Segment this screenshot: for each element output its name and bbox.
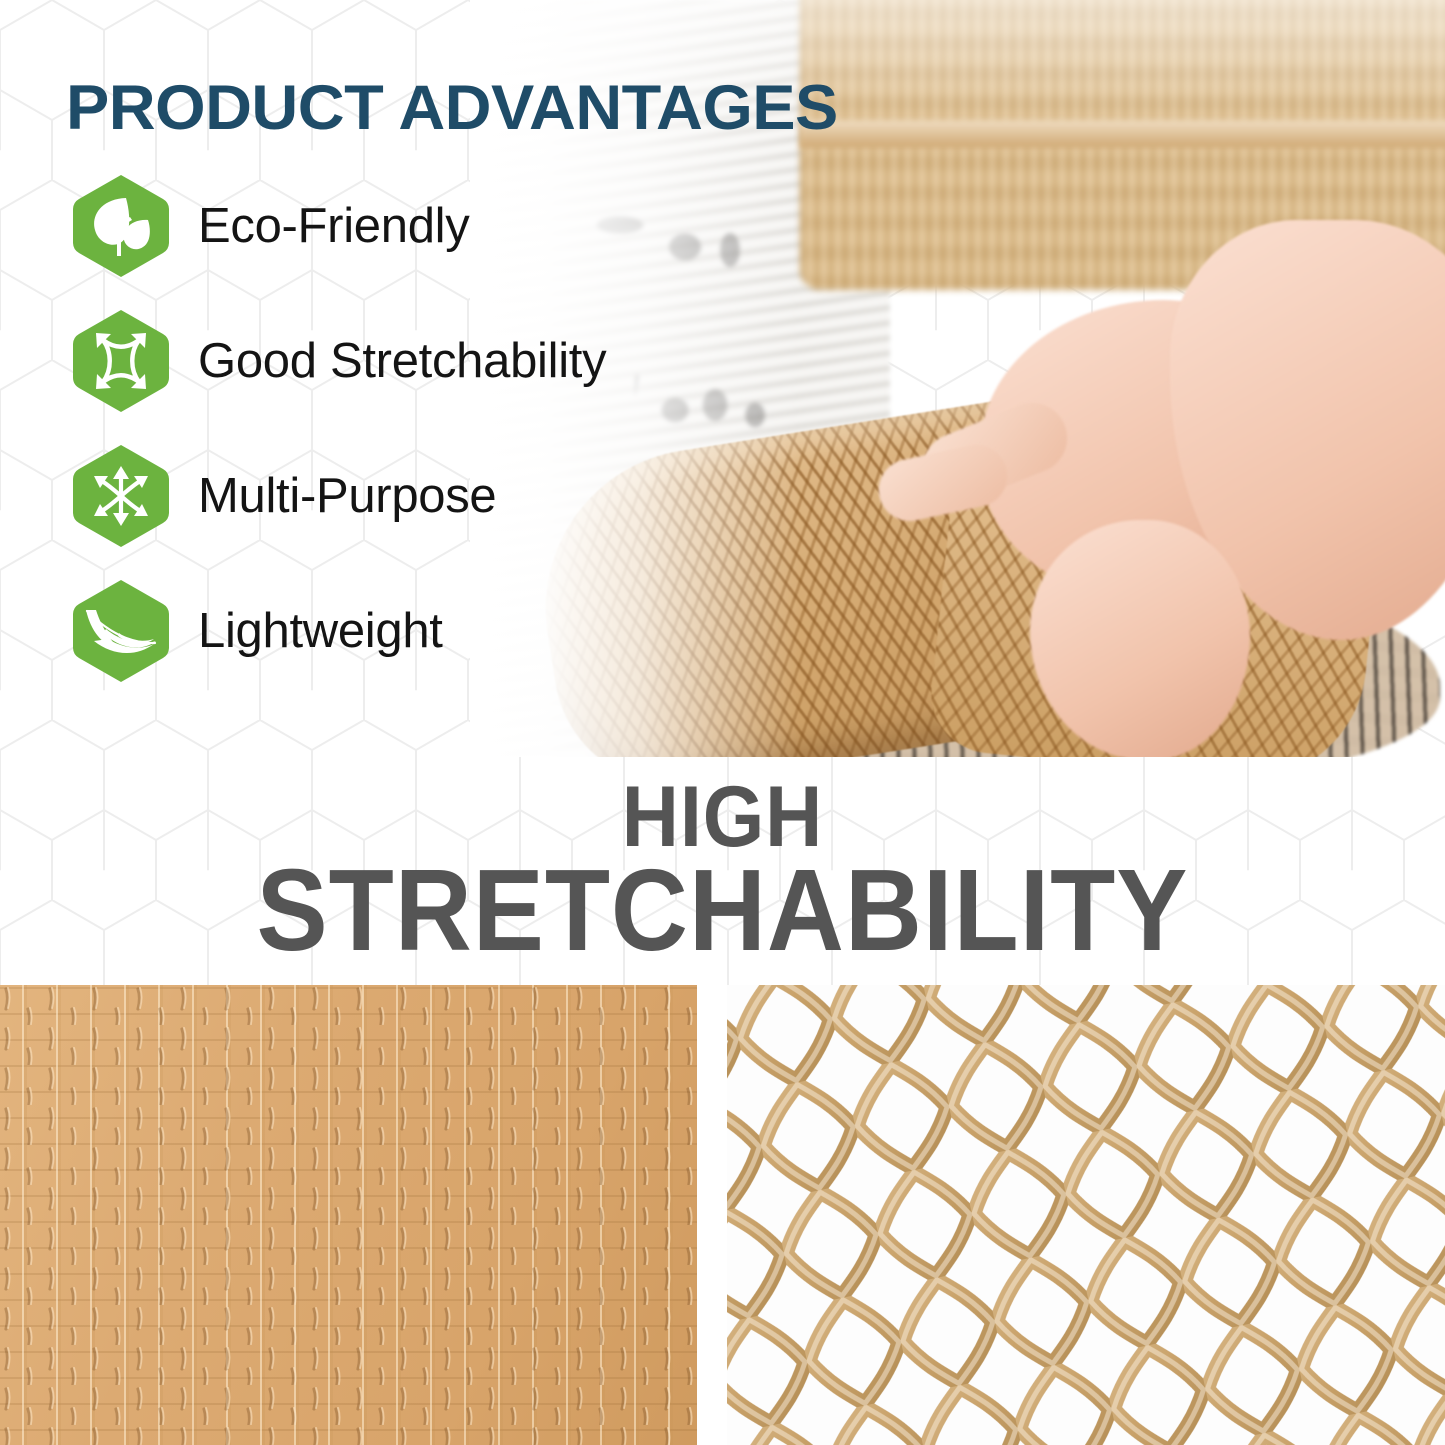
kraft-sheet-slits (0, 985, 697, 1445)
banner-high-stretchability: HIGH STRETCHABILITY (0, 757, 1445, 985)
sample-stretched-honeycomb-mesh (727, 985, 1445, 1445)
advantage-label: Lightweight (198, 603, 443, 659)
advantages-list: Eco-Friendly Good St (70, 172, 606, 685)
multi-direction-arrows-icon (70, 442, 172, 550)
advantage-label: Multi-Purpose (198, 468, 496, 524)
leaf-icon (70, 172, 172, 280)
banner-line-2: STRETCHABILITY (257, 857, 1189, 964)
advantage-label: Good Stretchability (198, 333, 606, 389)
page-title: PRODUCT ADVANTAGES (66, 72, 838, 144)
product-advantages-infographic: PRODUCT ADVANTAGES Eco-Friendly (0, 0, 1445, 1445)
sample-panel-divider (697, 985, 727, 1445)
stretch-arrows-icon (70, 307, 172, 415)
wicker-basket-rim (800, 120, 1445, 148)
advantage-label: Eco-Friendly (198, 198, 469, 254)
feather-icon (70, 577, 172, 685)
advantage-item-good-stretchability: Good Stretchability (70, 307, 606, 415)
advantage-item-eco-friendly: Eco-Friendly (70, 172, 606, 280)
hand-fist (1030, 520, 1250, 757)
advantage-item-multi-purpose: Multi-Purpose (70, 442, 606, 550)
honeycomb-mesh-lattice (727, 985, 1445, 1445)
advantage-item-lightweight: Lightweight (70, 577, 606, 685)
sample-unstretched-kraft-honeycomb-sheet (0, 985, 697, 1445)
